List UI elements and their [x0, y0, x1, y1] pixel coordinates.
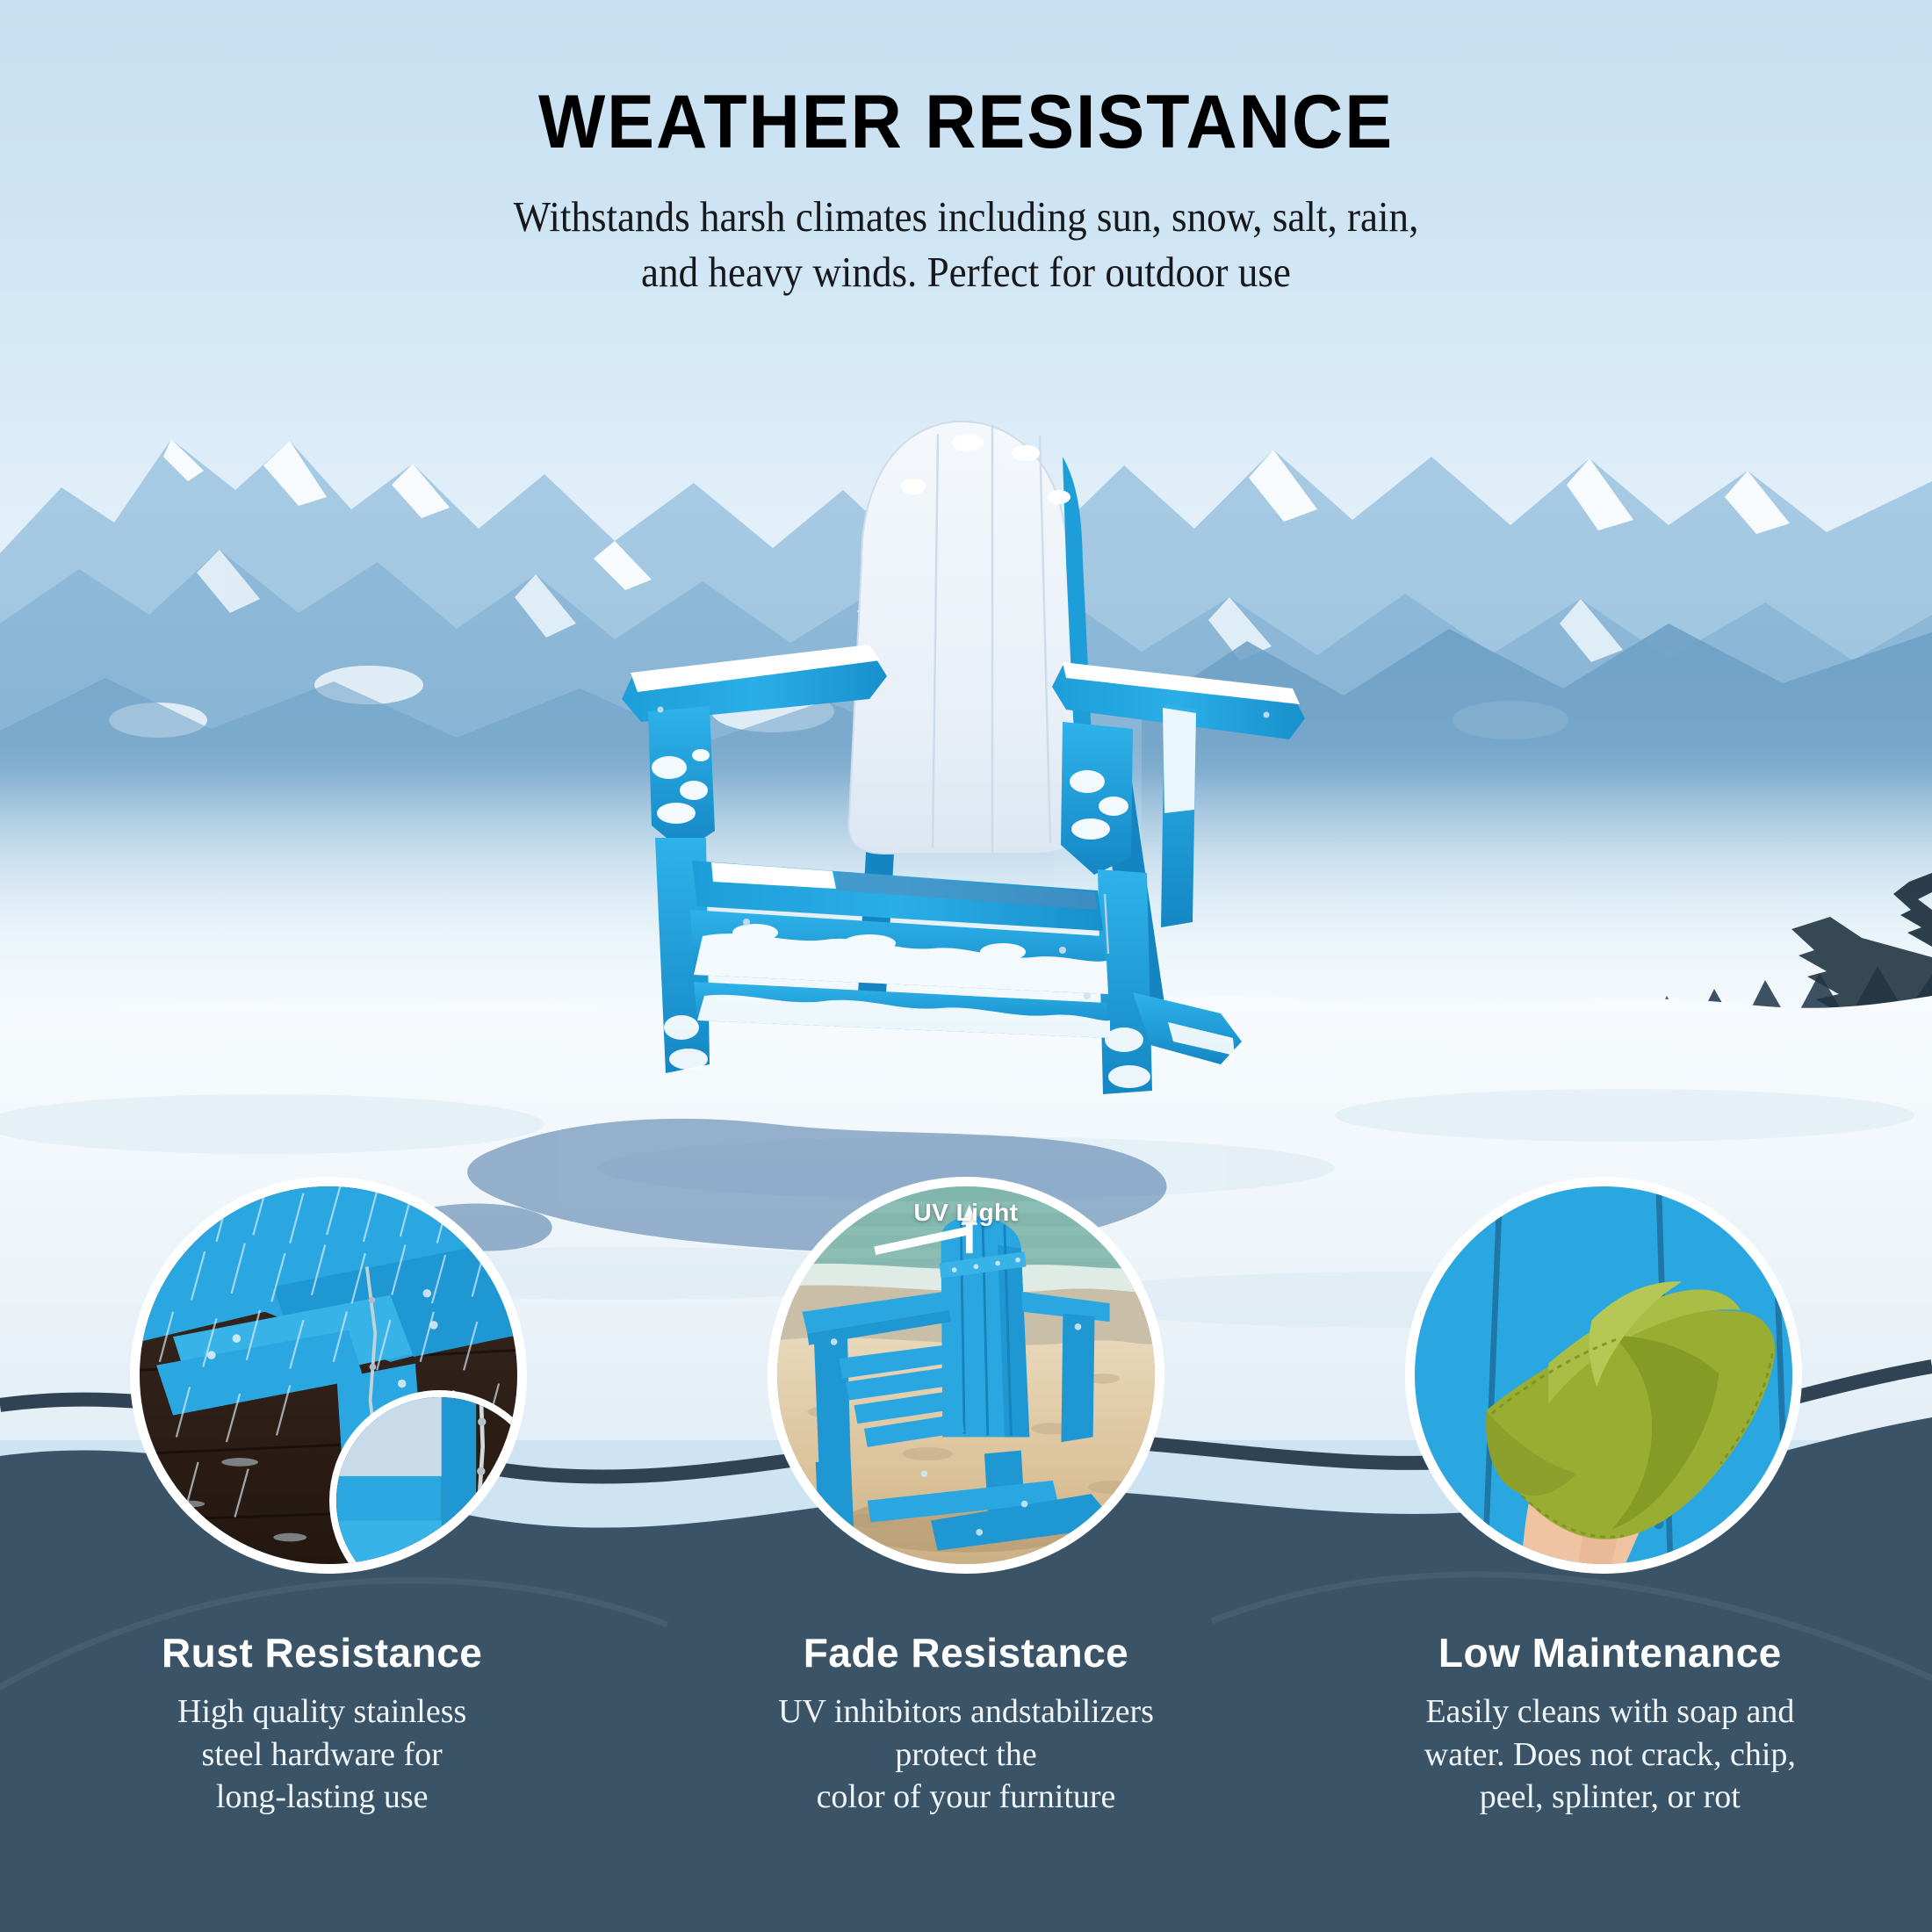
caption-title-rust: Rust Resistance — [23, 1629, 621, 1676]
caption-body-rust: High quality stainless steel hardware fo… — [23, 1690, 621, 1819]
subtitle-line-2: and heavy winds. Perfect for outdoor use — [360, 245, 1572, 300]
caption-title-fade: Fade Resistance — [667, 1629, 1265, 1676]
fade-line-3: color of your furniture — [667, 1776, 1265, 1819]
uv-light-label: UV Light — [777, 1199, 1155, 1227]
caption-rust-resistance: Rust Resistance High quality stainless s… — [0, 1629, 644, 1819]
rust-line-3: long-lasting use — [23, 1776, 621, 1819]
beach-chair-scene — [777, 1186, 1155, 1564]
caption-title-maintenance: Low Maintenance — [1311, 1629, 1909, 1676]
maint-line-3: peel, splinter, or rot — [1311, 1776, 1909, 1819]
hand-cleaning-scene — [1415, 1186, 1792, 1564]
caption-body-maintenance: Easily cleans with soap and water. Does … — [1311, 1690, 1909, 1819]
infographic-poster: WEATHER RESISTANCE Withstands harsh clim… — [0, 0, 1932, 1932]
header-block: WEATHER RESISTANCE Withstands harsh clim… — [0, 84, 1932, 299]
page-subtitle: Withstands harsh climates including sun,… — [360, 190, 1572, 299]
subtitle-line-1: Withstands harsh climates including sun,… — [360, 190, 1572, 245]
adirondack-chair-snow-covered — [606, 413, 1344, 1142]
fade-line-2: protect the — [667, 1734, 1265, 1777]
feature-image-rust-resistance[interactable] — [130, 1177, 527, 1574]
rust-line-1: High quality stainless — [23, 1690, 621, 1734]
maint-line-2: water. Does not crack, chip, — [1311, 1734, 1909, 1777]
caption-fade-resistance: Fade Resistance UV inhibitors andstabili… — [644, 1629, 1287, 1819]
feature-circles: UV Light — [0, 1168, 1932, 1625]
page-title: WEATHER RESISTANCE — [58, 84, 1874, 160]
caption-low-maintenance: Low Maintenance Easily cleans with soap … — [1288, 1629, 1932, 1819]
caption-body-fade: UV inhibitors andstabilizers protect the… — [667, 1690, 1265, 1819]
maint-line-1: Easily cleans with soap and — [1311, 1690, 1909, 1734]
feature-captions: Rust Resistance High quality stainless s… — [0, 1629, 1932, 1819]
feature-image-low-maintenance[interactable] — [1405, 1177, 1802, 1574]
rust-line-2: steel hardware for — [23, 1734, 621, 1777]
fade-line-1: UV inhibitors andstabilizers — [667, 1690, 1265, 1734]
feature-image-fade-resistance[interactable]: UV Light — [768, 1177, 1164, 1574]
